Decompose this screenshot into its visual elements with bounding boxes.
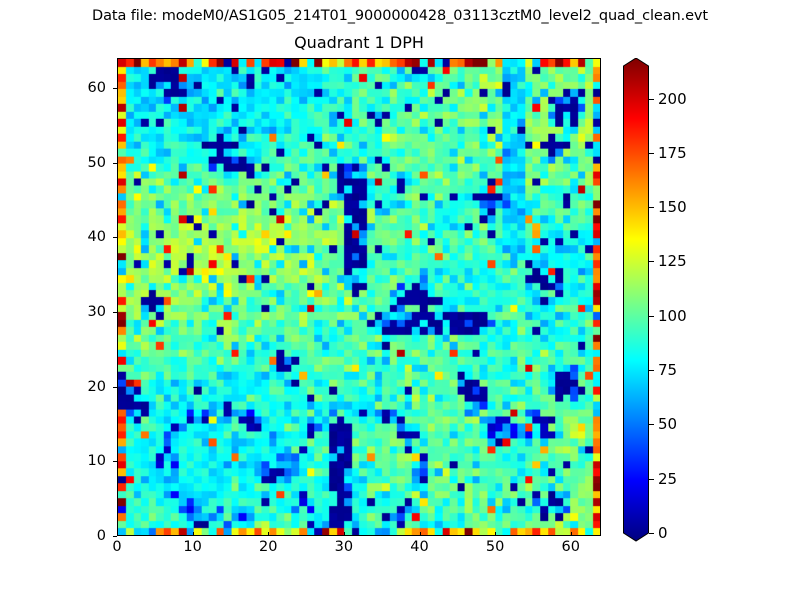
y-tick-20	[113, 387, 117, 388]
y-tick-30	[113, 312, 117, 313]
x-tick-20	[268, 532, 269, 536]
colorbar-tick-200	[649, 99, 654, 100]
x-ticklabel-30: 30	[335, 539, 353, 555]
y-tick-50	[113, 163, 117, 164]
y-tick-60	[113, 88, 117, 89]
colorbar-ticklabel-100: 100	[658, 307, 687, 325]
colorbar-tick-150	[649, 207, 654, 208]
colorbar[interactable]	[623, 58, 649, 543]
colorbar-ticklabel-50: 50	[658, 415, 677, 433]
heatmap-axes[interactable]	[117, 58, 601, 536]
x-ticklabel-60: 60	[562, 539, 580, 555]
colorbar-tick-75	[649, 370, 654, 371]
colorbar-ticklabel-125: 125	[658, 252, 687, 270]
y-ticklabel-40: 40	[0, 229, 106, 245]
x-tick-0	[117, 532, 118, 536]
colorbar-ticklabel-0: 0	[658, 524, 668, 542]
figure-canvas: Data file: modeM0/AS1G05_214T01_90000004…	[0, 0, 800, 600]
y-tick-10	[113, 461, 117, 462]
colorbar-tick-125	[649, 261, 654, 262]
x-ticklabel-10: 10	[183, 539, 201, 555]
colorbar-ticklabel-25: 25	[658, 470, 677, 488]
x-ticklabel-40: 40	[410, 539, 428, 555]
x-tick-50	[495, 532, 496, 536]
x-ticklabel-50: 50	[486, 539, 504, 555]
colorbar-ticklabel-150: 150	[658, 198, 687, 216]
x-ticklabel-20: 20	[259, 539, 277, 555]
x-ticklabel-0: 0	[112, 539, 121, 555]
colorbar-tick-25	[649, 479, 654, 480]
colorbar-tick-100	[649, 316, 654, 317]
colorbar-tick-175	[649, 153, 654, 154]
colorbar-ticklabel-175: 175	[658, 144, 687, 162]
y-ticklabel-20: 20	[0, 379, 106, 395]
y-tick-0	[113, 536, 117, 537]
colorbar-ticklabel-75: 75	[658, 361, 677, 379]
axes-title: Quadrant 1 DPH	[117, 33, 601, 52]
x-tick-30	[344, 532, 345, 536]
y-ticklabel-60: 60	[0, 80, 106, 96]
y-ticklabel-10: 10	[0, 453, 106, 469]
colorbar-ticklabel-200: 200	[658, 90, 687, 108]
colorbar-gradient	[623, 58, 649, 543]
y-tick-40	[113, 237, 117, 238]
y-ticklabel-30: 30	[0, 304, 106, 320]
x-tick-10	[193, 532, 194, 536]
y-ticklabel-0: 0	[0, 528, 106, 544]
colorbar-tick-50	[649, 424, 654, 425]
y-ticklabel-50: 50	[0, 155, 106, 171]
colorbar-tick-0	[649, 533, 654, 534]
figure-suptitle: Data file: modeM0/AS1G05_214T01_90000004…	[0, 8, 800, 24]
x-tick-60	[571, 532, 572, 536]
heatmap-image[interactable]	[118, 59, 600, 535]
x-tick-40	[420, 532, 421, 536]
